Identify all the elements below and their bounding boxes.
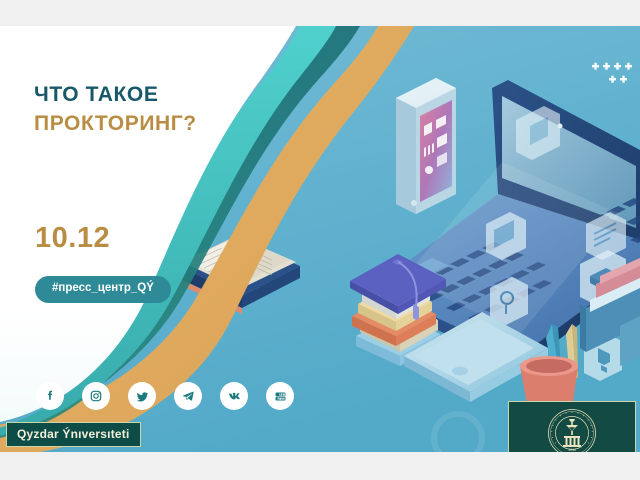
screenshot-viewport: ЧТО ТАКОЕ ПРОКТОРИНГ? 10.12 #пресс_центр… [0, 0, 640, 480]
hashtag-badge[interactable]: #пресс_центр_QÝ [35, 276, 171, 303]
university-emblem: 1944 [547, 408, 597, 452]
page-title-line2: ПРОКТОРИНГ? [34, 112, 197, 136]
telegram-icon[interactable] [174, 382, 202, 410]
facebook-icon[interactable] [36, 382, 64, 410]
svg-text:1944: 1944 [568, 448, 576, 452]
university-logo-card[interactable]: 1944 www.kazmkpu.kz [508, 401, 636, 452]
youtube-icon[interactable] [266, 382, 294, 410]
twitter-icon[interactable] [128, 382, 156, 410]
event-date: 10.12 [35, 222, 110, 255]
decorative-dots [592, 62, 634, 88]
instagram-icon[interactable] [82, 382, 110, 410]
university-name-plate: Qyzdar Ýnıversıteti [6, 422, 141, 447]
presentation-slide: ЧТО ТАКОЕ ПРОКТОРИНГ? 10.12 #пресс_центр… [0, 26, 640, 452]
vk-icon[interactable] [220, 382, 248, 410]
page-title-line1: ЧТО ТАКОЕ [34, 83, 158, 107]
social-links [36, 382, 294, 410]
